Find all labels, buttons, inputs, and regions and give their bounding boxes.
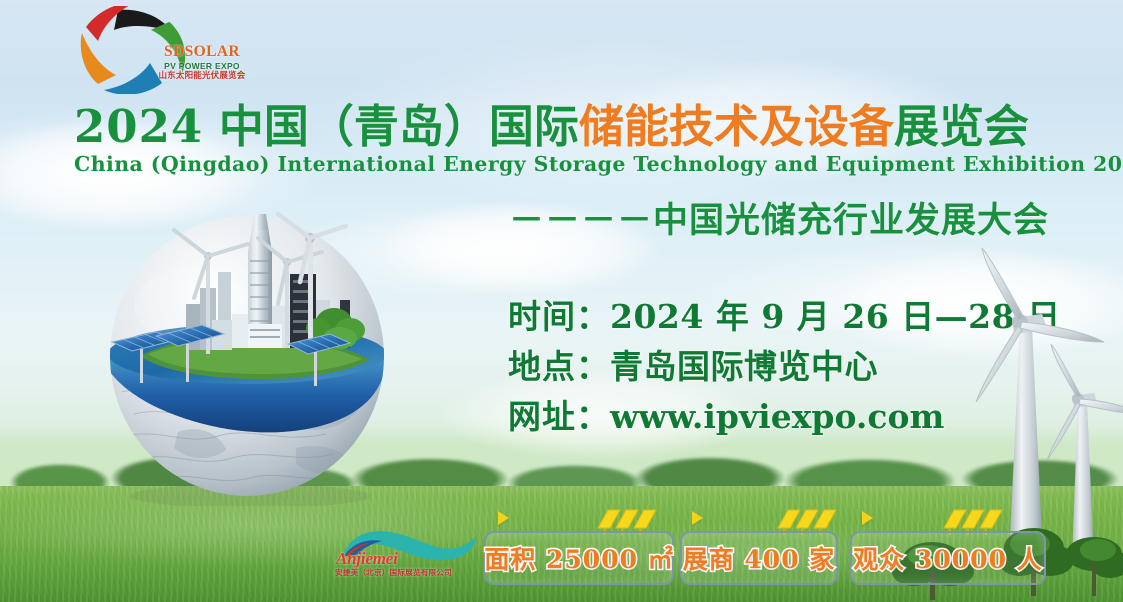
- arrow-accent: [498, 511, 509, 525]
- badge-area: 面积 25000 ㎡: [484, 531, 674, 585]
- event-url-label: 网址：: [508, 397, 610, 436]
- page-subtitle-chinese: －－－－中国光储充行业发展大会: [509, 192, 1049, 243]
- badge-visitors: 观众 30000 人: [850, 531, 1046, 585]
- logo-line-sdsolar: SDSOLAR: [146, 44, 258, 60]
- title-green-2: 展览会: [894, 100, 1029, 153]
- logo-line-pv-power-expo: PV POWER EXPO: [146, 62, 258, 71]
- badge-exhibitors-label: 展商 400 家: [683, 540, 836, 576]
- logo-line-chinese: 山东太阳能光伏展览会: [146, 72, 258, 81]
- title-green-1: 中国（青岛）国际: [203, 100, 579, 153]
- exhibition-banner: SDSOLAR PV POWER EXPO 山东太阳能光伏展览会: [0, 0, 1123, 602]
- arrow-accent: [862, 511, 873, 525]
- anjiemei-company-name: 安捷美（北京）国际展览有限公司: [335, 567, 452, 578]
- title-year: 2024: [74, 100, 203, 153]
- sdsolar-logo[interactable]: SDSOLAR PV POWER EXPO 山东太阳能光伏展览会: [58, 6, 198, 94]
- event-venue-label: 地点：: [508, 347, 610, 386]
- eco-earth-illustration: [82, 196, 412, 506]
- event-time-label: 时间：: [508, 297, 610, 336]
- badge-exhibitors: 展商 400 家: [680, 531, 838, 585]
- anjiemei-logo[interactable]: Anjiemei 安捷美（北京）国际展览有限公司: [330, 522, 478, 584]
- page-title: 2024 中国（青岛）国际储能技术及设备展览会: [74, 104, 1029, 149]
- page-subtitle-english: China (Qingdao) International Energy Sto…: [74, 152, 1123, 176]
- event-venue-value: 青岛国际博览中心: [610, 347, 878, 386]
- sdsolar-logo-text: SDSOLAR PV POWER EXPO 山东太阳能光伏展览会: [146, 44, 258, 81]
- anjiemei-wordmark: Anjiemei: [336, 549, 398, 569]
- event-url-value[interactable]: www.ipviexpo.com: [610, 397, 944, 436]
- badge-visitors-label: 观众 30000 人: [853, 540, 1042, 576]
- title-orange: 储能技术及设备: [579, 100, 894, 153]
- arrow-accent: [692, 511, 703, 525]
- badge-area-label: 面积 25000 ㎡: [484, 540, 673, 576]
